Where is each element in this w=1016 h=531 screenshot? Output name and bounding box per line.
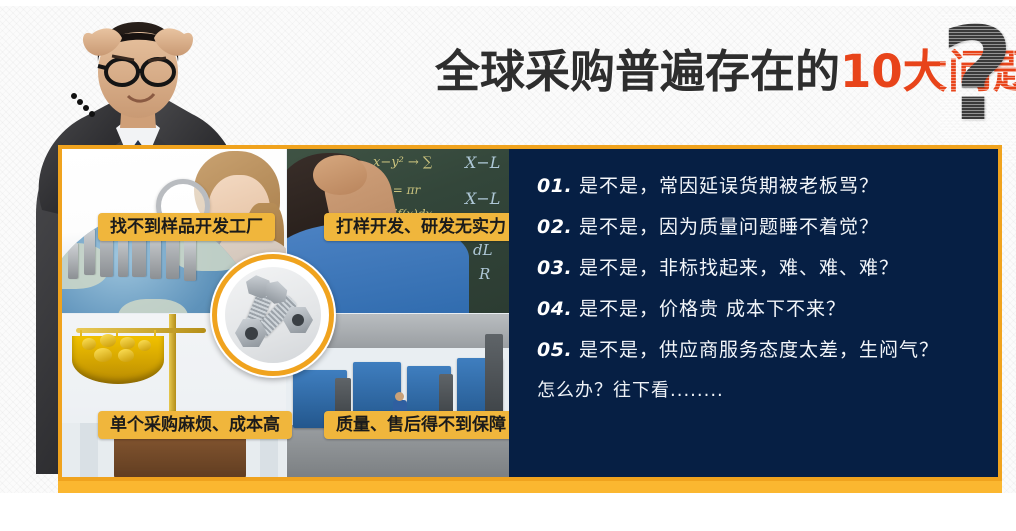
list-item-number: 05. [537,339,579,361]
list-item-number: 04. [537,298,579,320]
page-title: 全球采购普遍存在的10大问题 [435,44,1016,100]
list-item-text: 是不是，供应商服务态度太差，生闷气？ [579,335,939,362]
list-item: 05. 是不是，供应商服务态度太差，生闷气？ [537,335,977,362]
scale-beam [76,328,206,333]
list-item: 03. 是不是，非标找起来，难、难、难？ [537,253,977,280]
caption-bottom-left: 单个采购麻烦、成本高 [98,411,292,439]
list-item-number: 02. [537,216,579,238]
scale-pan [72,336,164,384]
gold-nugget [118,349,134,362]
list-item: 02. 是不是，因为质量问题睡不着觉？ [537,212,977,239]
nut-hole [292,314,304,326]
caption-bottom-right: 质量、售后得不到保障 [324,411,509,439]
gold-nugget [100,334,116,347]
gold-nugget [138,340,151,351]
chalk-formula: X−L [465,189,500,208]
problems-panel: 01. 是不是，常因延误货期被老板骂？ 02. 是不是，因为质量问题睡不着觉？ … [509,149,998,477]
city-building [68,243,78,279]
hand-shape [313,155,367,195]
header: 全球采购普遍存在的10大问题 ? The top 10 common probl… [435,44,1015,136]
background-bottom-strip [0,493,1016,531]
chalk-formula: dL [473,241,493,259]
chalk-formula: R [479,265,490,283]
list-item-number: 01. [537,175,579,197]
chalk-formula: X−L [465,153,500,172]
badge-orange-ring [212,254,334,376]
list-item-text: 是不是，价格贵 成本下不来？ [579,294,846,321]
photo-collage: x−y² → ∑ √(a+b) = πr X−L X−L R dL R ∫f(x… [62,149,509,477]
chalk-formula: x−y² → ∑ [373,155,432,170]
caption-top-left: 找不到样品开发工厂 [98,213,275,241]
list-item: 04. 是不是，价格贵 成本下不来？ [537,294,977,321]
nut-hole [245,327,258,340]
list-item-text: 是不是，因为质量问题睡不着觉？ [579,212,879,239]
problems-list: 01. 是不是，常因延误货期被老板骂？ 02. 是不是，因为质量问题睡不着觉？ … [537,171,977,402]
landmass [118,299,188,313]
gold-nugget [82,338,96,350]
city-building [184,239,196,281]
gold-nugget [94,348,112,362]
list-item-text: 是不是，非标找起来，难、难、难？ [579,253,899,280]
banner-stage: 全球采购普遍存在的10大问题 ? The top 10 common probl… [0,0,1016,531]
question-mark-icon: ? [940,12,1014,140]
list-item-text: 是不是，常因延误货期被老板骂？ [579,171,879,198]
list-item-number: 03. [537,257,579,279]
bolts-photo [225,267,321,363]
caption-top-right: 打样开发、研发无实力 [324,213,509,241]
list-item: 01. 是不是，常因延误货期被老板骂？ [537,171,977,198]
problems-footnote: 怎么办？往下看........ [537,376,977,402]
center-badge [210,252,336,378]
main-panel: x−y² → ∑ √(a+b) = πr X−L X−L R dL R ∫f(x… [58,145,1002,481]
city-building [84,229,95,275]
title-text-dark: 全球采购普遍存在的 [435,45,840,98]
gold-nugget [120,337,135,349]
factory-worker-head [395,392,404,401]
